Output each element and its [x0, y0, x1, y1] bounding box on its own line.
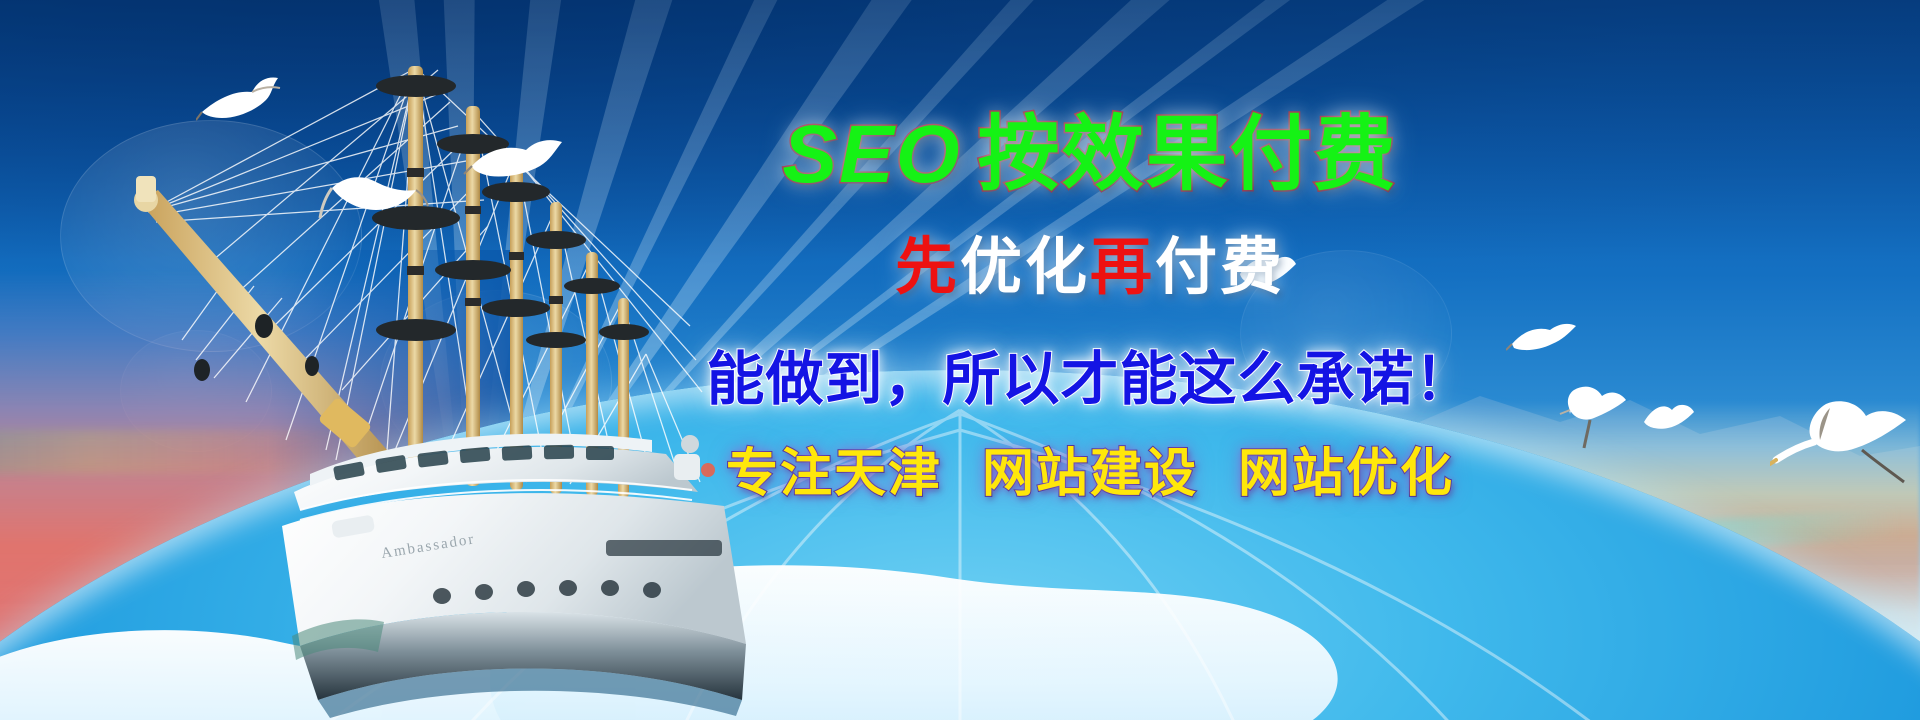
- egret-bird-icon: [1640, 400, 1698, 438]
- subheadline-seg-2: 优化: [960, 230, 1090, 303]
- subheadline-seg-4: 付费: [1155, 230, 1285, 303]
- service-item-2: 网站建设: [982, 444, 1198, 504]
- promo-copy-block: SEO按效果付费 先优化再付费 能做到，所以才能这么承诺！ 专注天津网站建设网站…: [560, 96, 1620, 616]
- promise-text: 能做到，所以才能这么承诺！: [560, 350, 1620, 408]
- headline: SEO按效果付费: [560, 114, 1620, 196]
- seo-promo-banner: Ambassador: [0, 0, 1920, 720]
- service-item-1: 专注天津: [726, 444, 942, 504]
- subheadline: 先优化再付费: [560, 236, 1620, 298]
- services-list: 专注天津网站建设网站优化: [560, 448, 1620, 500]
- subheadline-seg-1: 先: [895, 230, 960, 303]
- service-item-3: 网站优化: [1238, 444, 1454, 504]
- subheadline-seg-3: 再: [1090, 230, 1155, 303]
- egret-bird-icon: [318, 166, 430, 236]
- headline-english: SEO: [782, 109, 961, 200]
- egret-bird-icon: [462, 132, 572, 196]
- egret-bird-icon: [196, 72, 300, 138]
- headline-chinese: 按效果付费: [978, 107, 1398, 202]
- egret-bird-icon: [1770, 398, 1920, 494]
